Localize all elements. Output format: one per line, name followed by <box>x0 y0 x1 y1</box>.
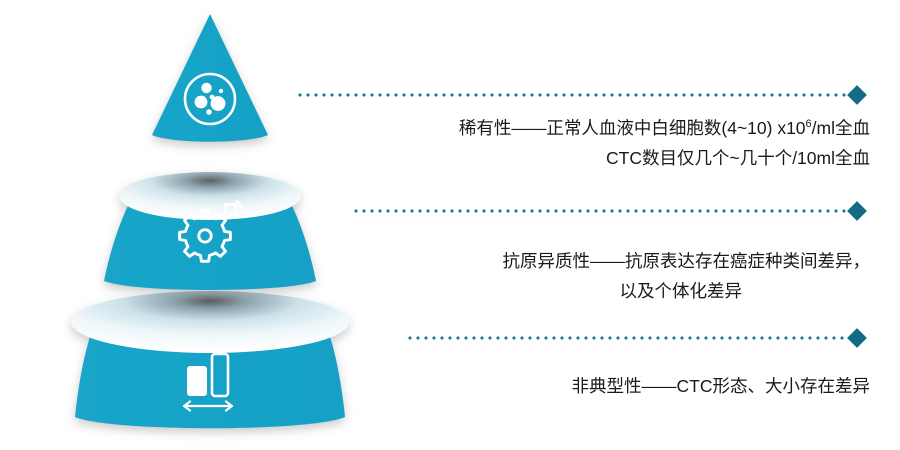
connector-marker-bottom <box>847 328 867 348</box>
connector-marker-top <box>847 85 867 105</box>
tier-top-caption-line-2: CTC数目仅几个~几十个/10ml全血 <box>300 143 870 173</box>
pyramid-tier-bottom <box>71 291 349 428</box>
connector-marker-middle <box>847 201 867 221</box>
pyramid-tier-top <box>152 14 268 142</box>
tier-bottom-caption-line-1: 非典型性——CTC形态、大小存在差异 <box>300 371 870 401</box>
tier-top-caption-line-1-post: /ml全血 <box>812 118 870 138</box>
tier-middle-caption-line-1: 抗原异质性——抗原表达存在癌症种类间差异， <box>300 246 870 276</box>
tier-bottom-caption: 非典型性——CTC形态、大小存在差异 <box>300 371 870 401</box>
tier-top-caption: 稀有性——正常人血液中白细胞数(4~10) x106/ml全血 CTC数目仅几个… <box>300 113 870 173</box>
connector-line-bottom <box>406 336 849 340</box>
pyramid-diagram-canvas: 稀有性——正常人血液中白细胞数(4~10) x106/ml全血 CTC数目仅几个… <box>0 0 900 450</box>
connector-line-top <box>296 93 849 97</box>
tier-top-caption-line-1: 稀有性——正常人血液中白细胞数(4~10) x106/ml全血 <box>300 113 870 143</box>
connector-line-middle <box>352 209 849 213</box>
tier-middle-caption-line-2: 以及个体化差异 <box>300 276 870 306</box>
tier-middle-caption: 抗原异质性——抗原表达存在癌症种类间差异， 以及个体化差异 <box>300 246 870 306</box>
tier-top-caption-line-1-pre: 稀有性——正常人血液中白细胞数(4~10) x10 <box>459 118 806 138</box>
